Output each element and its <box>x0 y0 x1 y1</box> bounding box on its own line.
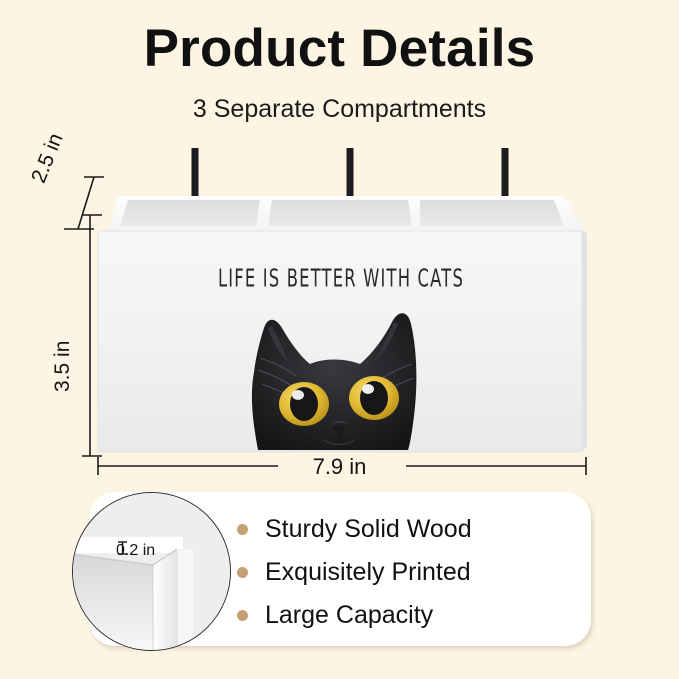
page-title: Product Details <box>0 22 679 75</box>
list-item: Sturdy Solid Wood <box>237 508 567 551</box>
feature-label: Large Capacity <box>265 603 433 628</box>
page-subtitle: 3 Separate Compartments <box>0 97 679 122</box>
bullet-dot-icon <box>237 524 248 535</box>
dimension-label-width: 7.9 in <box>0 456 679 478</box>
thickness-detail-inset <box>72 492 231 651</box>
list-item: Exquisitely Printed <box>237 551 567 594</box>
features-list: Sturdy Solid Wood Exquisitely Printed La… <box>237 508 567 637</box>
list-item: Large Capacity <box>237 594 567 637</box>
dimension-label-height: 3.5 in <box>52 341 73 392</box>
product-details-infographic: Product Details 3 Separate Compartments <box>0 0 679 679</box>
dimension-label-thickness: 0.2 in <box>116 542 155 560</box>
printed-caption: LIFE IS BETTER WITH CATS <box>151 264 532 292</box>
bullet-dot-icon <box>237 610 248 621</box>
feature-label: Exquisitely Printed <box>265 560 471 585</box>
dimension-line-height <box>82 214 104 460</box>
feature-label: Sturdy Solid Wood <box>265 517 472 542</box>
black-cat-illustration <box>228 298 454 452</box>
bullet-dot-icon <box>237 567 248 578</box>
